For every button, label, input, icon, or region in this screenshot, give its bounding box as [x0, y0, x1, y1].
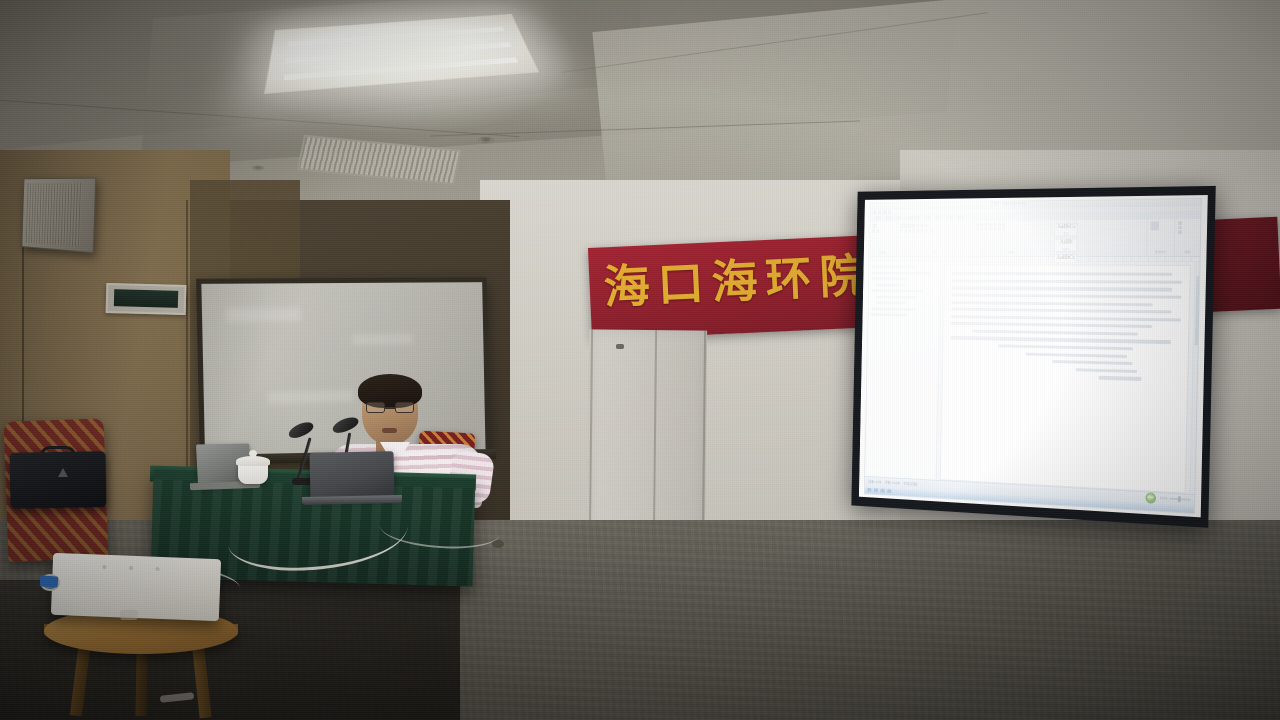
vertical-scrollbar[interactable] [1190, 262, 1200, 494]
text-line [951, 286, 1172, 291]
document-page[interactable] [940, 265, 1191, 494]
speaker-grille-icon [26, 183, 82, 247]
select-icon[interactable] [1178, 230, 1181, 233]
projection-screen-surface: 文档1 - Microsoft Word 文件 开始 插入 页面布局 引用 邮件… [859, 195, 1208, 517]
sort-icon[interactable] [998, 223, 1001, 226]
tab-mailings[interactable]: 邮件 [935, 216, 942, 221]
text-line [1053, 360, 1132, 365]
floor-object [492, 540, 504, 548]
zoom-slider[interactable] [1169, 498, 1190, 501]
taskbar-item-icon[interactable] [887, 489, 891, 493]
ribbon-group-label: 段落 [975, 250, 1047, 254]
font-color-icon[interactable] [930, 229, 933, 232]
recessed-downlight-icon [252, 166, 264, 171]
nav-heading[interactable] [871, 307, 917, 310]
style-name: 标题 1 [1062, 247, 1070, 251]
laptop-bag [10, 451, 107, 509]
font-name-box[interactable] [900, 224, 915, 229]
change-styles-label: 更改样式 [1150, 250, 1172, 254]
projection-screen-frame: 文档1 - Microsoft Word 文件 开始 插入 页面布局 引用 邮件… [851, 186, 1215, 528]
multilevel-list-icon[interactable] [985, 223, 988, 226]
language-indicator[interactable]: 中文(中国) [903, 481, 917, 486]
word-title-label: 文档1 - Microsoft Word [990, 201, 1026, 207]
projector-vga-plug [40, 575, 59, 587]
floor-object [120, 610, 138, 620]
control-panel-display [114, 289, 178, 307]
paste-icon[interactable] [872, 224, 876, 229]
nav-heading[interactable] [871, 313, 907, 316]
tab-insert[interactable]: 插入 [896, 216, 903, 221]
text-line [1099, 376, 1142, 380]
style-heading-1[interactable]: AaBb 标题 1 [1054, 239, 1078, 253]
text-line [1025, 352, 1127, 357]
borders-icon[interactable] [1002, 227, 1005, 230]
text-highlight-icon[interactable] [925, 229, 928, 232]
zoom-control[interactable]: 110% [1160, 496, 1191, 502]
style-normal[interactable]: AaBbCc 正文 [1054, 223, 1078, 237]
style-name: 正文 [1063, 232, 1069, 236]
bullets-icon[interactable] [976, 223, 979, 226]
document-body[interactable] [865, 262, 1200, 494]
panel-door-knob[interactable] [616, 344, 624, 349]
conference-room-photo: 海口海环院环境 文档1 - Microsoft Word [0, 0, 1280, 720]
text-line [951, 294, 1182, 299]
folding-wall-panels[interactable] [587, 329, 707, 542]
change-styles-icon[interactable] [1150, 222, 1159, 231]
recessed-downlight-icon [478, 137, 494, 143]
ribbon-group-label: 剪贴板 [872, 251, 894, 255]
presenter-laptop-lid[interactable] [310, 451, 395, 499]
align-right-icon[interactable] [985, 227, 988, 230]
ribbon-group-change-styles[interactable]: 更改样式 [1147, 219, 1176, 256]
teacup-lid-knob [249, 450, 257, 457]
ribbon-group-paragraph[interactable]: 段落 [973, 221, 1052, 257]
nav-heading[interactable] [872, 265, 918, 268]
page-indicator: 页面: 1/28 [868, 480, 882, 485]
undo-icon[interactable] [878, 210, 881, 214]
nav-heading[interactable] [876, 283, 905, 286]
presenter-mouth [382, 428, 397, 433]
nav-heading[interactable] [876, 301, 905, 304]
ribbon-group-label: 编辑 [1178, 250, 1197, 254]
navigation-pane[interactable] [865, 262, 941, 480]
subscript-icon[interactable] [917, 229, 920, 232]
text-line [951, 279, 1182, 283]
bold-icon[interactable] [900, 229, 903, 232]
security-badge-label: 360 [1147, 496, 1153, 500]
text-line [951, 315, 1181, 321]
font-size-box[interactable] [917, 224, 920, 227]
print-icon[interactable] [888, 210, 891, 214]
text-line [951, 301, 1152, 306]
nav-heading[interactable] [871, 277, 907, 280]
zoom-level: 110% [1160, 496, 1168, 500]
microphone-base [292, 478, 312, 485]
tab-home[interactable]: 开始 [886, 216, 893, 221]
teacup-lid [236, 456, 270, 466]
replace-icon[interactable] [1178, 226, 1181, 229]
find-icon[interactable] [1178, 221, 1181, 225]
nav-heading[interactable] [871, 289, 923, 292]
style-sample: AaBbCc [1056, 255, 1075, 261]
taskbar-item-icon[interactable] [874, 489, 878, 493]
align-left-icon[interactable] [976, 227, 979, 230]
text-line [952, 272, 1173, 276]
ribbon-group-styles[interactable]: AaBbCc 正文 AaBb 标题 1 AaBbCc 标题 2 [1051, 220, 1147, 256]
shading-icon[interactable] [998, 227, 1001, 230]
text-line [950, 336, 1171, 344]
cut-icon[interactable] [872, 229, 875, 232]
taskbar-item-icon[interactable] [880, 489, 884, 493]
ribbon-group-editing[interactable]: 编辑 [1175, 219, 1201, 256]
text-line [1075, 368, 1136, 373]
ribbon-group-clipboard[interactable]: 剪贴板 [869, 222, 897, 256]
word-window[interactable]: 文档1 - Microsoft Word 文件 开始 插入 页面布局 引用 邮件… [864, 198, 1202, 513]
style-sample: AaBbCc [1057, 224, 1076, 230]
justify-icon[interactable] [989, 227, 992, 230]
ribbon-group-font[interactable]: 字体 [897, 221, 973, 256]
nav-heading[interactable] [876, 295, 915, 298]
word-count: 字数: 9,830 [885, 480, 900, 485]
tab-file[interactable]: 文件 [875, 216, 882, 221]
copy-icon[interactable] [876, 229, 879, 232]
security-badge-icon[interactable]: 360 [1145, 492, 1156, 503]
style-sample: AaBb [1060, 240, 1073, 246]
italic-icon[interactable] [904, 229, 907, 232]
tab-references[interactable]: 引用 [924, 216, 931, 221]
ribbon[interactable]: 剪贴板 [869, 219, 1200, 257]
ribbon-group-label: 字体 [900, 251, 970, 255]
decrease-indent-icon[interactable] [989, 223, 992, 226]
underline-icon[interactable] [908, 229, 911, 232]
wall-speaker [21, 178, 96, 254]
tab-review[interactable]: 审阅 [946, 216, 953, 221]
text-line [999, 344, 1133, 350]
strikethrough-icon[interactable] [913, 229, 916, 232]
stool-leg [135, 652, 147, 716]
superscript-icon[interactable] [921, 229, 924, 232]
start-button-icon[interactable] [867, 488, 871, 492]
text-line [951, 308, 1172, 314]
text-line [972, 330, 1137, 336]
align-center-icon[interactable] [980, 227, 983, 230]
nav-heading[interactable] [871, 271, 930, 274]
scrollbar-thumb[interactable] [1195, 276, 1199, 346]
shrink-font-icon[interactable] [925, 224, 928, 227]
redo-icon[interactable] [883, 210, 886, 214]
wall-control-panel[interactable] [106, 283, 187, 315]
text-line [951, 322, 1152, 328]
line-spacing-icon[interactable] [993, 227, 996, 230]
glasses-icon [366, 402, 414, 414]
numbering-icon[interactable] [980, 223, 983, 226]
show-marks-icon[interactable] [1002, 223, 1005, 226]
tab-page-layout[interactable]: 页面布局 [907, 216, 920, 221]
save-icon[interactable] [873, 211, 876, 215]
increase-indent-icon[interactable] [993, 223, 996, 226]
grow-font-icon[interactable] [921, 224, 924, 227]
tab-view[interactable]: 视图 [957, 216, 964, 221]
